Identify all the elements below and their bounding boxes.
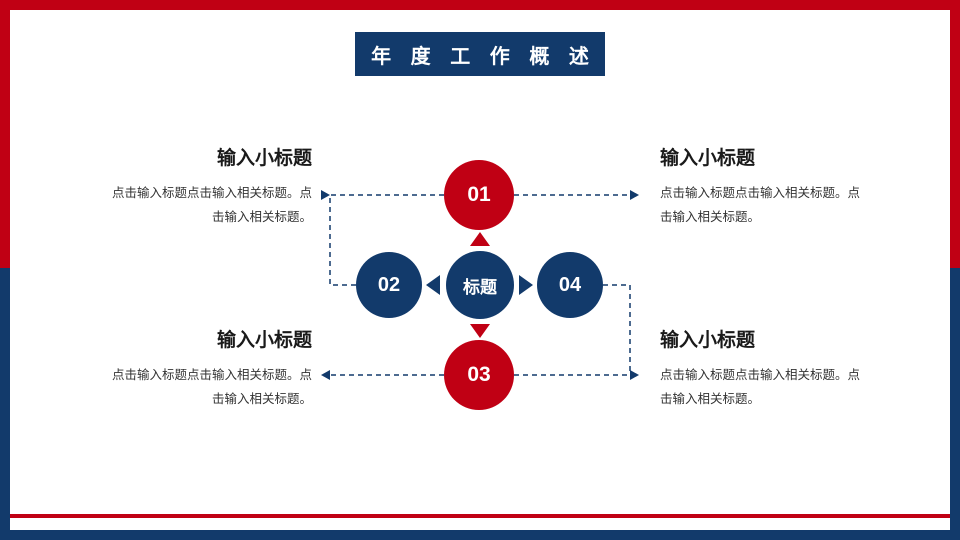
slide-canvas: 年 度 工 作 概 述 01 02 03 04 标题 [0,0,960,540]
diagram-node-03-label: 03 [467,363,490,387]
text-block-bottom-right: 输入小标题 点击输入标题点击输入相关标题。点击输入相关标题。 [660,325,872,412]
diagram-center-node[interactable]: 标题 [446,251,514,319]
text-block-bottom-left-body: 点击输入标题点击输入相关标题。点击输入相关标题。 [100,364,312,412]
cycle-diagram: 01 02 03 04 标题 [0,0,960,540]
arrow-right-icon [519,275,533,295]
text-block-top-right-heading: 输入小标题 [660,143,872,170]
diagram-node-02[interactable]: 02 [356,252,422,318]
text-block-bottom-right-body: 点击输入标题点击输入相关标题。点击输入相关标题。 [660,364,872,412]
diagram-node-01[interactable]: 01 [444,160,514,230]
text-block-top-left-body: 点击输入标题点击输入相关标题。点击输入相关标题。 [100,182,312,230]
diagram-center-label: 标题 [463,273,497,298]
text-block-bottom-left: 输入小标题 点击输入标题点击输入相关标题。点击输入相关标题。 [100,325,312,412]
text-block-top-right-body: 点击输入标题点击输入相关标题。点击输入相关标题。 [660,182,872,230]
text-block-bottom-left-heading: 输入小标题 [100,325,312,352]
diagram-node-04-label: 04 [559,274,581,297]
arrow-left-icon [426,275,440,295]
diagram-node-03[interactable]: 03 [444,340,514,410]
text-block-top-left: 输入小标题 点击输入标题点击输入相关标题。点击输入相关标题。 [100,143,312,230]
diagram-node-02-label: 02 [378,274,400,297]
diagram-node-01-label: 01 [467,183,490,207]
arrow-down-icon [470,324,490,338]
arrow-up-icon [470,232,490,246]
text-block-bottom-right-heading: 输入小标题 [660,325,872,352]
text-block-top-right: 输入小标题 点击输入标题点击输入相关标题。点击输入相关标题。 [660,143,872,230]
text-block-top-left-heading: 输入小标题 [100,143,312,170]
diagram-node-04[interactable]: 04 [537,252,603,318]
